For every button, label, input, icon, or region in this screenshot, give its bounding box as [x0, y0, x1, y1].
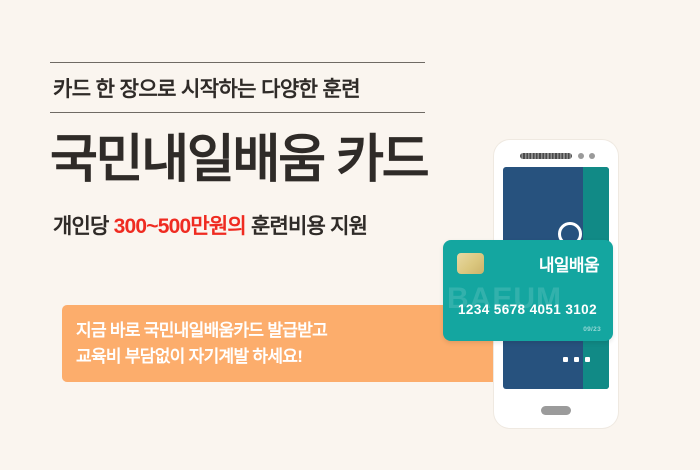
subtitle-prefix: 개인당: [53, 215, 114, 238]
card-brand-label: 내일배움: [539, 251, 599, 276]
dot: [574, 357, 579, 362]
subtitle-suffix: 훈련비용 지원: [246, 215, 367, 238]
speaker-grille-icon: [520, 153, 572, 159]
dot: [563, 357, 568, 362]
callout-line-1: 지금 바로 국민내일배움카드 발급받고: [76, 318, 327, 344]
home-button: [541, 406, 571, 415]
card-expiry: 09/23: [583, 326, 601, 333]
card-number: 1234 5678 4051 3102: [458, 302, 597, 317]
page-title: 국민내일배움 카드: [50, 133, 470, 188]
subtitle: 개인당 300~500만원의 훈련비용 지원: [50, 210, 470, 240]
credit-card: BAEUM 내일배움 1234 5678 4051 3102 09/23: [443, 240, 613, 341]
more-dots-icon: [563, 357, 590, 362]
callout-line-2: 교육비 부담없이 자기계발 하세요!: [76, 344, 327, 370]
subtitle-amount: 300~500만원의: [114, 215, 246, 238]
callout-text: 지금 바로 국민내일배움카드 발급받고 교육비 부담없이 자기계발 하세요!: [76, 318, 327, 371]
tagline-rule-bottom: [50, 112, 425, 113]
tagline: 카드 한 장으로 시작하는 다양한 훈련: [50, 63, 470, 112]
callout-box: 지금 바로 국민내일배움카드 발급받고 교육비 부담없이 자기계발 하세요!: [62, 305, 500, 382]
card-chip-icon: [457, 253, 484, 274]
promo-banner: 카드 한 장으로 시작하는 다양한 훈련 국민내일배움 카드 개인당 300~5…: [0, 0, 700, 470]
front-camera-icon: [578, 153, 584, 159]
text-column: 카드 한 장으로 시작하는 다양한 훈련 국민내일배움 카드 개인당 300~5…: [50, 62, 470, 240]
dot: [585, 357, 590, 362]
proximity-sensor-icon: [589, 153, 595, 159]
